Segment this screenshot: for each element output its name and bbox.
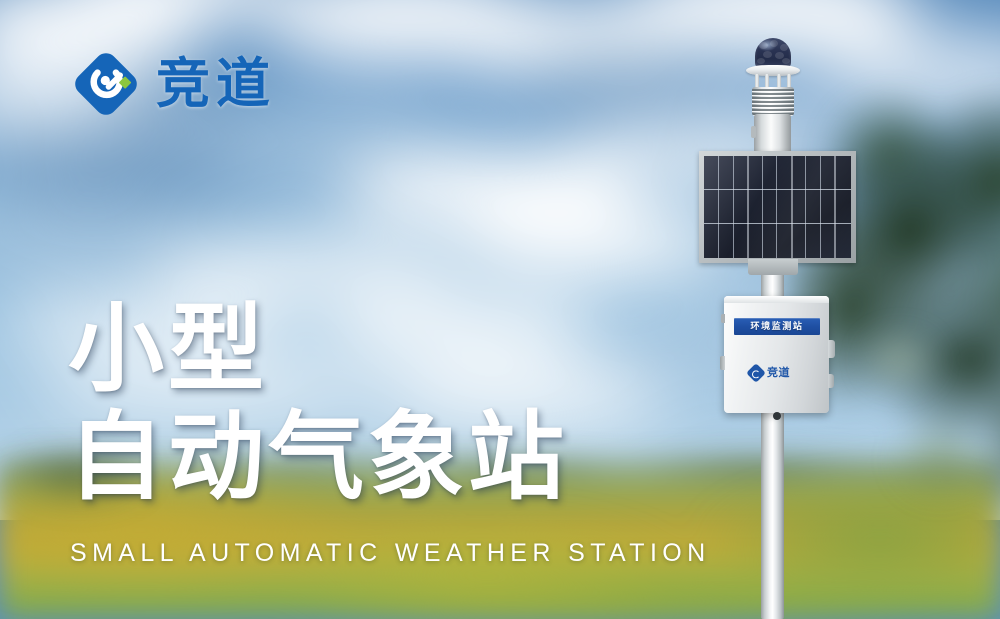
page-title: 小型 自动气象站	[68, 296, 568, 513]
collar-clip-icon	[751, 126, 756, 138]
enclosure-left-vent-2	[721, 314, 725, 323]
control-enclosure-icon: 环境监测站 竞道	[724, 296, 829, 413]
sensor-columns	[754, 74, 792, 88]
headline-line-1: 小型	[68, 296, 568, 404]
sensor-dome	[755, 38, 791, 68]
enclosure-bottom-bolt-icon	[773, 412, 781, 420]
enclosure-right-bracket	[828, 340, 835, 358]
brand-lockup: 竞道	[70, 48, 276, 120]
brand-name: 竞道	[156, 57, 276, 111]
jingdao-diamond-logo-icon	[70, 48, 142, 120]
headline-line-2: 自动气象站	[68, 404, 568, 512]
enclosure-label-banner: 环境监测站	[734, 318, 820, 335]
subtitle: SMALL AUTOMATIC WEATHER STATION	[70, 541, 711, 566]
enclosure-right-bracket-2	[828, 374, 834, 388]
ultrasonic-weather-sensor-icon	[744, 38, 802, 120]
enclosure-left-vent	[720, 356, 725, 370]
solar-panel-icon	[699, 151, 856, 263]
radiation-shield-louvers	[752, 87, 794, 116]
enclosure-label-text: 环境监测站	[750, 322, 803, 331]
enclosure-logo-mark-icon	[746, 363, 766, 383]
enclosure-logo-text: 竞道	[767, 368, 790, 379]
enclosure-brand-logo: 竞道	[749, 366, 790, 380]
solar-cells	[704, 156, 851, 258]
pole-collar	[754, 114, 791, 156]
solar-panel-mount	[748, 259, 798, 275]
product-hero-banner: 环境监测站 竞道 竞道	[0, 0, 1000, 619]
enclosure-top-edge	[724, 296, 829, 303]
